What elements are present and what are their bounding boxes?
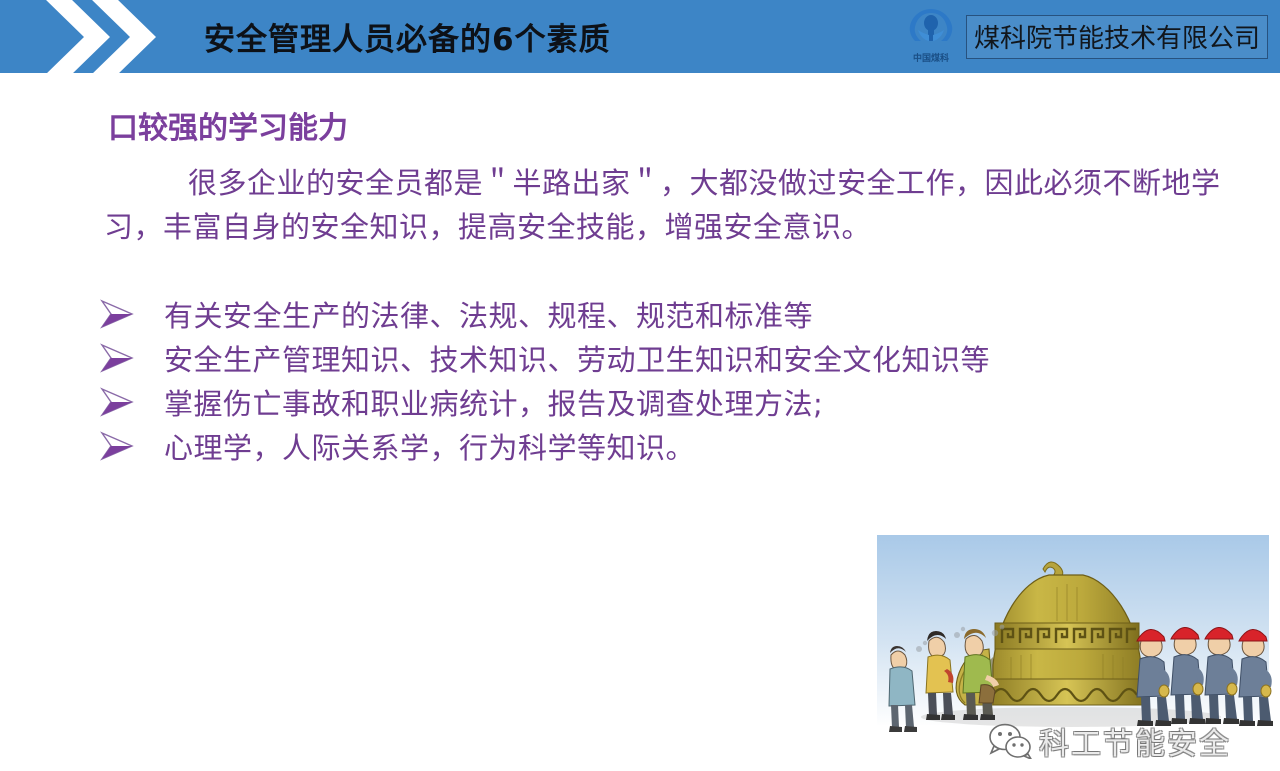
- brand-block: 中国煤科 煤科院节能技术有限公司: [904, 6, 1268, 68]
- brand-logo-caption: 中国煤科: [904, 54, 958, 64]
- company-name-box: 煤科院节能技术有限公司: [966, 15, 1268, 59]
- bullet-list: 有关安全生产的法律、法规、规程、规范和标准等 安全生产管理知识、技术知识、劳动卫…: [100, 295, 1240, 471]
- arrow-bullet-icon: [100, 427, 164, 461]
- arrow-bullet-icon: [100, 339, 164, 373]
- list-item: 心理学，人际关系学，行为科学等知识。: [100, 427, 1240, 471]
- arrow-bullet-icon: [100, 295, 164, 329]
- golden-bell-with-workers-illustration: [871, 529, 1275, 771]
- list-item-label: 有关安全生产的法律、法规、规程、规范和标准等: [164, 295, 1240, 337]
- body-paragraph: 很多企业的安全员都是＂半路出家＂，大都没做过安全工作，因此必须不断地学习，丰富自…: [104, 161, 1232, 249]
- slide-header: 安全管理人员必备的6个素质 中国煤科 煤科院节能技术有限公司: [0, 0, 1280, 73]
- list-item: 有关安全生产的法律、法规、规程、规范和标准等: [100, 295, 1240, 339]
- list-item: 掌握伤亡事故和职业病统计，报告及调查处理方法;: [100, 383, 1240, 427]
- list-item-label: 心理学，人际关系学，行为科学等知识。: [164, 427, 1240, 469]
- double-chevron-right-icon: [44, 0, 204, 73]
- page-title: 安全管理人员必备的6个素质: [204, 14, 611, 59]
- section-heading: 口较强的学习能力: [108, 103, 348, 147]
- arrow-bullet-icon: [100, 383, 164, 417]
- china-coal-logo: 中国煤科: [904, 8, 958, 66]
- list-item-label: 安全生产管理知识、技术知识、劳动卫生知识和安全文化知识等: [164, 339, 1240, 381]
- list-item-label: 掌握伤亡事故和职业病统计，报告及调查处理方法;: [164, 383, 1240, 425]
- list-item: 安全生产管理知识、技术知识、劳动卫生知识和安全文化知识等: [100, 339, 1240, 383]
- slide-body: 口较强的学习能力 很多企业的安全员都是＂半路出家＂，大都没做过安全工作，因此必须…: [0, 73, 1280, 720]
- company-name: 煤科院节能技术有限公司: [974, 18, 1260, 55]
